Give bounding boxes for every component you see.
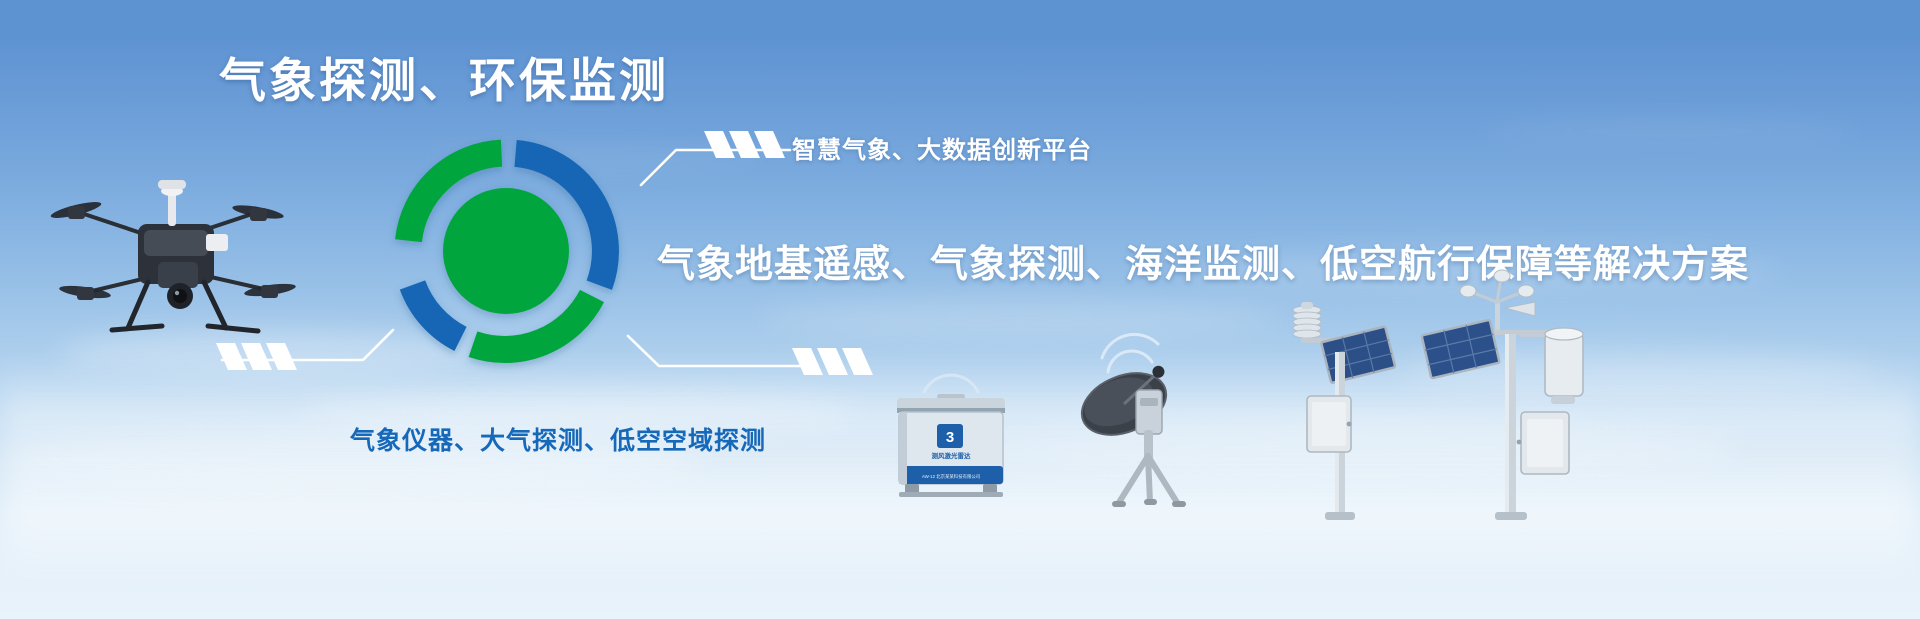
lidar-badge-number: 3 — [946, 429, 954, 446]
donut-arc-blue-lower-left — [413, 285, 461, 339]
solar-anemometer-station-photo — [1409, 272, 1609, 522]
drone-photo — [40, 150, 300, 370]
banner-title: 气象探测、环保监测 — [219, 52, 669, 111]
cloud-wisp — [1480, 120, 1860, 142]
donut-center-disc — [443, 188, 569, 314]
lidar-caption-sub: AW-12 北京某某科技有限公司 — [922, 473, 980, 480]
lidar-instrument-photo: 3 测风激光雷达 AW-12 北京某某科技有限公司 — [889, 392, 1013, 504]
lidar-caption-main: 测风激光雷达 — [932, 451, 972, 460]
callout-text-top: 智慧气象、大数据创新平台 — [792, 130, 1092, 165]
callout-text-bottom: 气象仪器、大气探测、低空空域探测 — [350, 421, 766, 457]
satellite-dish-photo — [1062, 318, 1204, 510]
donut-ring-graphic — [388, 133, 624, 369]
solar-weather-station-photo — [1281, 292, 1401, 522]
weather-detection-banner: 气象探测、环保监测 — [0, 0, 1920, 619]
